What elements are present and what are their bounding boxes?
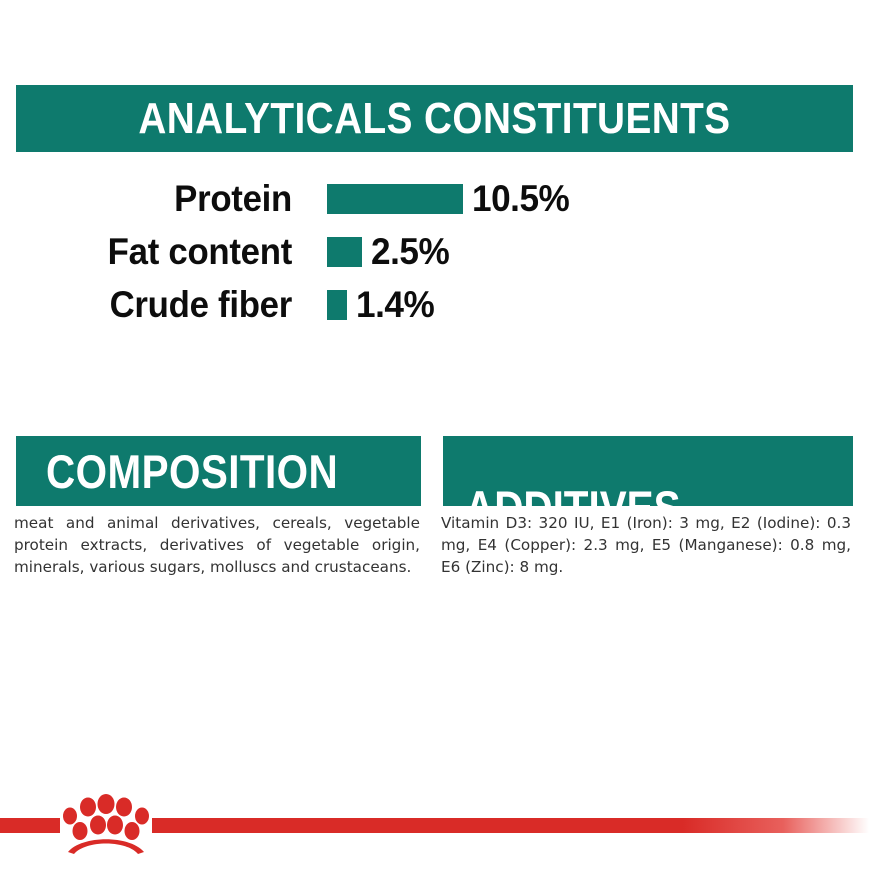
- chart-bar-protein: [327, 184, 463, 214]
- footer-band-right-segment: [152, 818, 869, 833]
- chart-bar-crude-fiber: [327, 290, 347, 320]
- additives-banner: ADDITIVES (per kg): [443, 436, 853, 506]
- constituents-bar-chart: Protein 10.5% Fat content 2.5% Crude fib…: [0, 172, 869, 332]
- additives-title: ADDITIVES: [465, 484, 681, 506]
- chart-label-protein: Protein: [18, 180, 292, 217]
- composition-text: meat and animal derivatives, cereals, ve…: [14, 512, 420, 578]
- chart-bar-group-fat-content: 2.5%: [327, 233, 453, 270]
- chart-bar-group-crude-fiber: 1.4%: [327, 286, 438, 323]
- nutrition-panel: ANALYTICALS CONSTITUENTS Protein 10.5% F…: [0, 0, 869, 869]
- composition-banner: COMPOSITION: [16, 436, 421, 506]
- chart-label-crude-fiber: Crude fiber: [18, 286, 292, 323]
- footer-band-left-segment: [0, 818, 60, 833]
- chart-value-protein: 10.5%: [472, 180, 569, 217]
- composition-title: COMPOSITION: [46, 448, 338, 495]
- analyticals-constituents-title: ANALYTICALS CONSTITUENTS: [138, 97, 730, 141]
- chart-value-crude-fiber: 1.4%: [356, 286, 434, 323]
- chart-bar-fat-content: [327, 237, 362, 267]
- analyticals-constituents-banner: ANALYTICALS CONSTITUENTS: [16, 85, 853, 152]
- additives-text: Vitamin D3: 320 IU, E1 (Iron): 3 mg, E2 …: [441, 512, 851, 578]
- chart-label-fat-content: Fat content: [18, 233, 292, 270]
- chart-value-fat-content: 2.5%: [371, 233, 449, 270]
- additives-title-suffix: (per kg): [718, 505, 797, 506]
- chart-row-crude-fiber: Crude fiber 1.4%: [0, 278, 869, 331]
- crown-icon: [58, 792, 154, 854]
- chart-row-fat-content: Fat content 2.5%: [0, 225, 869, 278]
- chart-bar-group-protein: 10.5%: [327, 180, 574, 217]
- chart-row-protein: Protein 10.5%: [0, 172, 869, 225]
